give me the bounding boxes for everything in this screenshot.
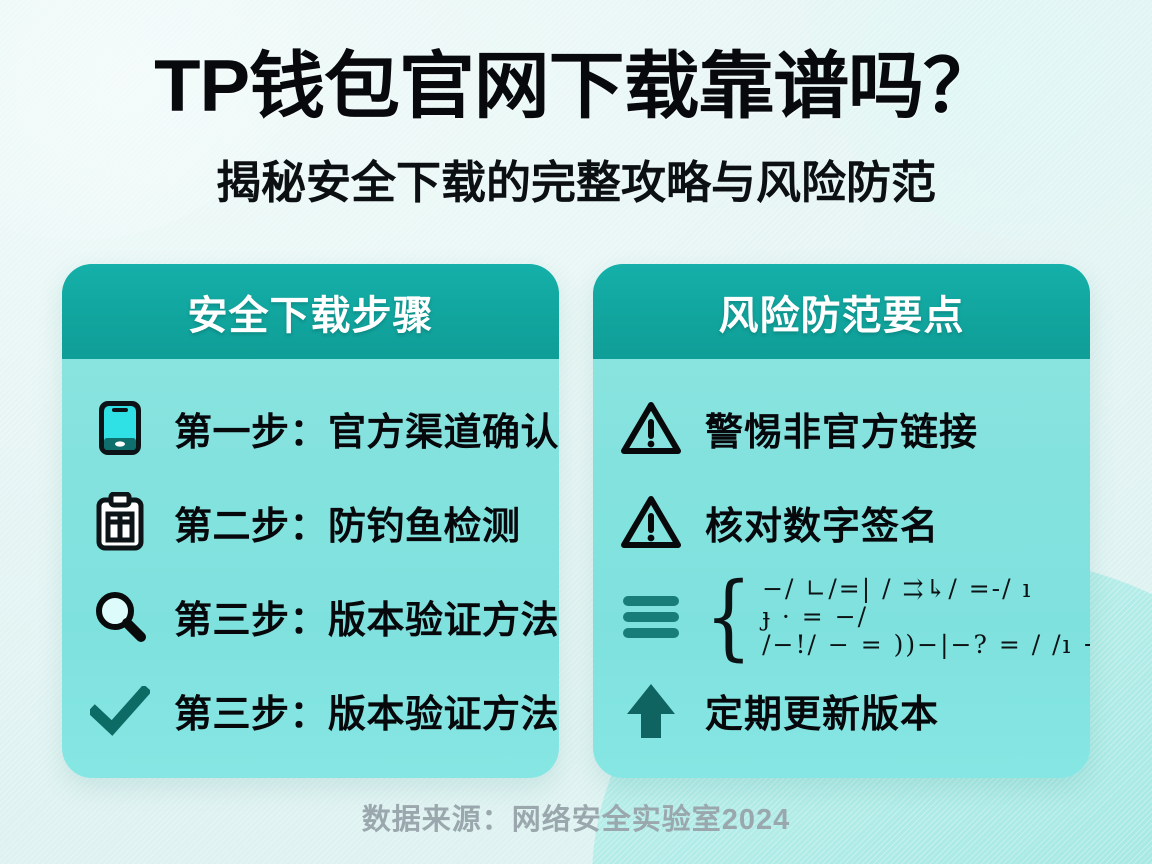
card-header-left: 安全下载步骤 — [62, 264, 559, 359]
list-item-label: 核对数字签名 — [705, 495, 939, 550]
source-footnote: 数据来源：网络安全实验室2024 — [0, 796, 1152, 838]
card-header-right: 风险防范要点 — [593, 264, 1090, 359]
card-safe-download-steps: 安全下载步骤 第一步：官方渠道确认 — [62, 264, 559, 778]
card-heading-label: 安全下载步骤 — [188, 283, 434, 341]
brace-glyph: { — [705, 580, 752, 653]
list-item[interactable]: { −/ ∟/=| / ⇉↳/ =-/ ı ɟ · = −/ /−!/ − = … — [619, 576, 1064, 658]
arrow-up-icon — [619, 679, 683, 743]
smartphone-icon — [88, 396, 152, 460]
warning-triangle-icon — [619, 396, 683, 460]
illegible-formula-text: { −/ ∟/=| / ⇉↳/ =-/ ı ɟ · = −/ /−!/ − = … — [705, 576, 1090, 658]
poster-content: TP钱包官网下载靠谱吗？ 揭秘安全下载的完整攻略与风险防范 安全下载步骤 — [0, 0, 1152, 864]
list-item[interactable]: 第一步：官方渠道确认 — [88, 387, 533, 469]
card-risk-prevention-points: 风险防范要点 警惕非官方链接 — [593, 264, 1090, 778]
list-item[interactable]: 第二步：防钓鱼检测 — [88, 481, 533, 563]
list-item-label: 第二步：防钓鱼检测 — [174, 495, 521, 550]
list-item[interactable]: 核对数字签名 — [619, 481, 1064, 563]
card-heading-label: 风险防范要点 — [719, 283, 965, 341]
list-item[interactable]: 警惕非官方链接 — [619, 387, 1064, 469]
card-body-right: 警惕非官方链接 核对数字签名 — [593, 359, 1090, 778]
card-body-left: 第一步：官方渠道确认 第二步：防钓鱼检测 — [62, 359, 559, 778]
cards-container: 安全下载步骤 第一步：官方渠道确认 — [62, 264, 1090, 778]
scribble-line: −/ ∟/=| / ⇉↳/ =-/ ı — [762, 576, 1090, 602]
list-item[interactable]: 第三步：版本验证方法 — [88, 670, 533, 752]
list-item-label: 第三步：版本验证方法 — [174, 589, 559, 644]
list-item-label: 第三步：版本验证方法 — [174, 683, 559, 738]
scribble-line: /−!/ − = ))−|−? = / /ı + — [762, 632, 1090, 658]
page-subtitle: 揭秘安全下载的完整攻略与风险防范 — [0, 158, 1152, 208]
clipboard-icon — [88, 490, 152, 554]
poster-canvas: TP钱包官网下载靠谱吗？ 揭秘安全下载的完整攻略与风险防范 安全下载步骤 — [0, 0, 1152, 864]
magnifier-icon — [88, 585, 152, 649]
page-title: TP钱包官网下载靠谱吗？ — [0, 48, 1152, 125]
scribble-line: ɟ · = −/ — [762, 604, 1090, 630]
warning-triangle-icon — [619, 490, 683, 554]
list-item[interactable]: 第三步：版本验证方法 — [88, 576, 533, 658]
list-item-label: 警惕非官方链接 — [705, 401, 978, 456]
list-item[interactable]: 定期更新版本 — [619, 670, 1064, 752]
check-icon — [88, 679, 152, 743]
scribble-lines: −/ ∟/=| / ⇉↳/ =-/ ı ɟ · = −/ /−!/ − = ))… — [762, 576, 1090, 658]
list-item-label: 定期更新版本 — [705, 683, 939, 738]
hamburger-lines-icon — [619, 585, 683, 649]
list-item-label: 第一步：官方渠道确认 — [174, 401, 559, 456]
